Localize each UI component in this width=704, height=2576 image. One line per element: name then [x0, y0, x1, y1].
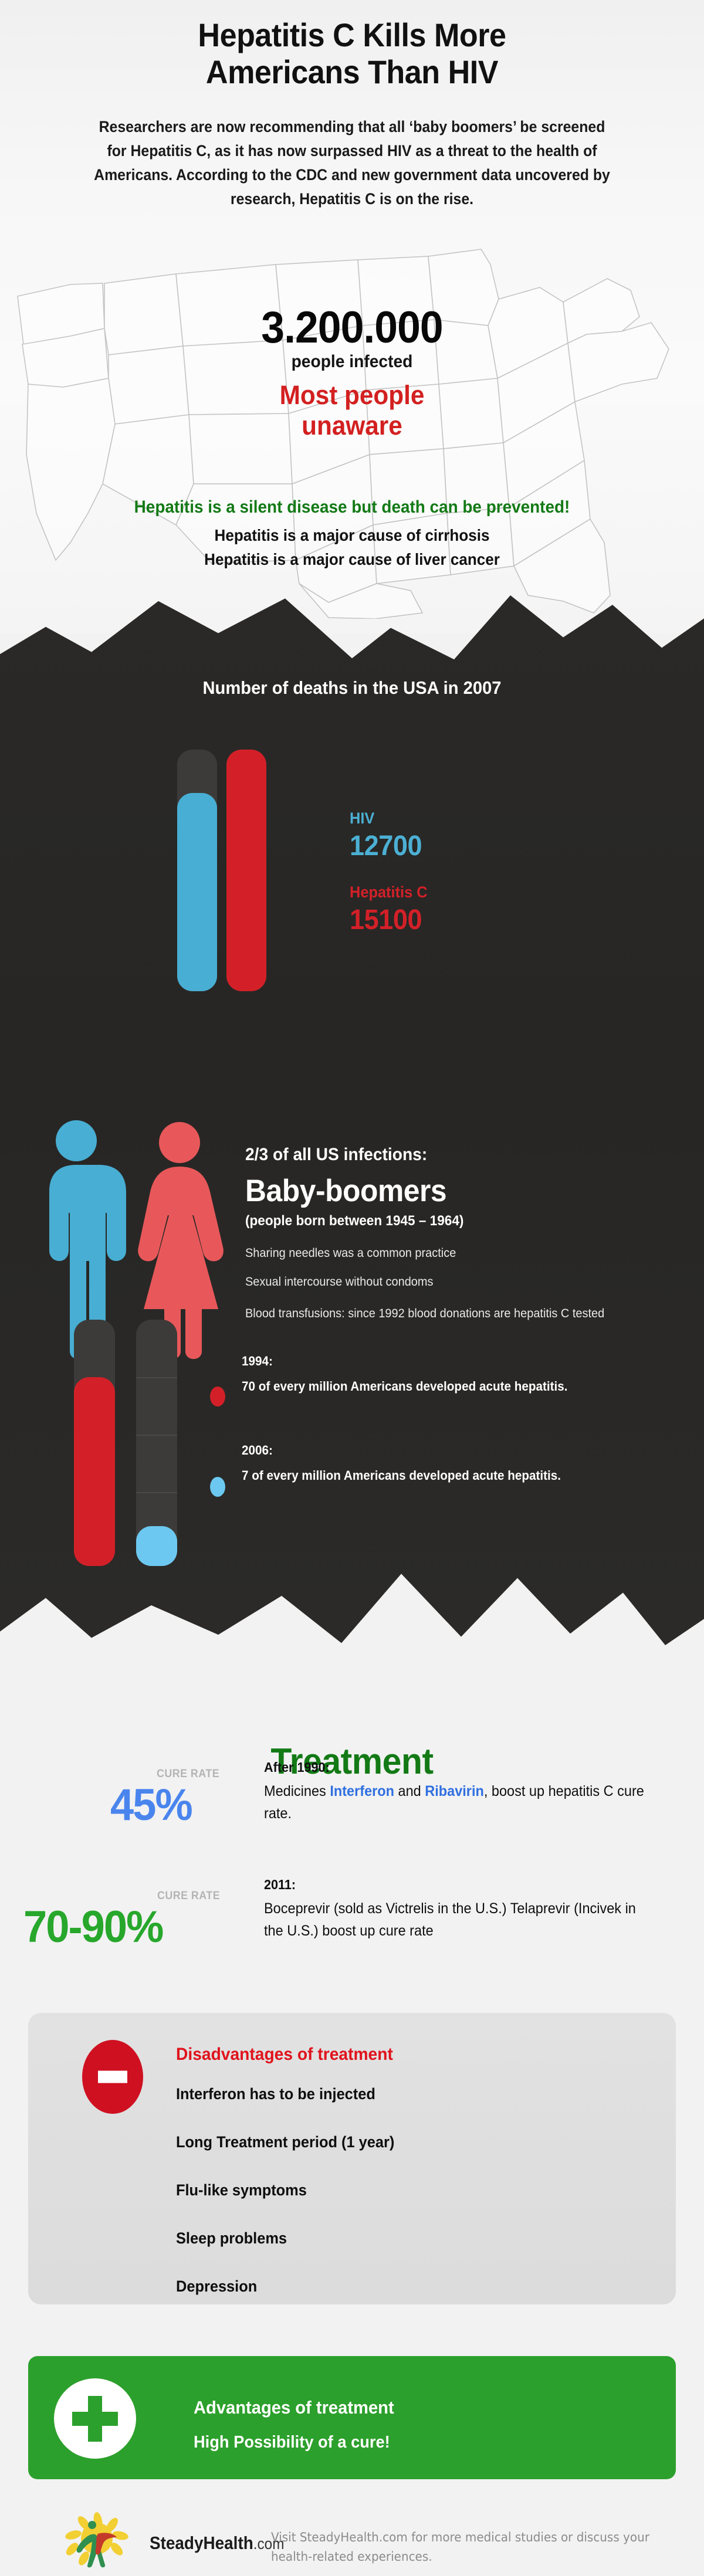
title-line-2: Americans Than HIV [25, 53, 679, 90]
treatment-1990-heading: After 1990: [264, 1760, 330, 1775]
disadvantage-item-3: Flu-like symptoms [176, 2181, 307, 2199]
drug-interferon: Interferon [330, 1783, 394, 1799]
treatment-2011-body: Boceprevir (sold as Victrelis in the U.S… [264, 1898, 650, 1942]
trend-thermometers-group [59, 1308, 182, 1595]
hiv-legend-value: 12700 [350, 830, 422, 862]
unaware-line-2: unaware [21, 411, 683, 441]
cure-rate-45-value: 45% [110, 1780, 192, 1831]
boomers-kicker: 2/3 of all US infections: [245, 1145, 427, 1165]
infected-count: 3.200.000 [21, 302, 683, 353]
trend-2006-year: 2006: [242, 1443, 273, 1458]
hero-section: Hepatitis C Kills More Americans Than HI… [0, 0, 704, 633]
disadvantage-item-1: Interferon has to be injected [176, 2085, 375, 2103]
plus-icon [54, 2378, 136, 2459]
track-tick [136, 1492, 177, 1493]
hiv-bar-fill [177, 793, 217, 991]
track-tick [136, 1435, 177, 1436]
infected-count-caption: people infected [21, 352, 683, 372]
body-mid: and [394, 1783, 425, 1799]
brand-part-steady: Steady [150, 2533, 204, 2553]
footer-description: Visit SteadyHealth.com for more medical … [271, 2528, 661, 2566]
advantages-subtitle: High Possibility of a cure! [194, 2433, 390, 2452]
page-title: Hepatitis C Kills More Americans Than HI… [25, 16, 679, 91]
list-item: Blood transfusions: since 1992 blood don… [245, 1304, 661, 1323]
unaware-callout: Most people unaware [21, 380, 683, 441]
minus-icon [82, 2040, 143, 2114]
deaths-chart-title: Number of deaths in the USA in 2007 [21, 677, 683, 699]
disadvantage-item-2: Long Treatment period (1 year) [176, 2133, 394, 2151]
unaware-line-1: Most people [21, 380, 683, 411]
boomers-headline: Baby-boomers [245, 1173, 446, 1209]
list-item: Sharing needles was a common practice [245, 1247, 661, 1259]
disadvantage-item-5: Depression [176, 2277, 257, 2296]
trend-2006-fill [136, 1526, 177, 1566]
boomers-bullet-list: Sharing needles was a common practice Se… [245, 1247, 682, 1340]
disadvantages-title: Disadvantages of treatment [176, 2045, 393, 2065]
list-item: Sexual intercourse without condoms [245, 1276, 661, 1288]
cure-rate-7090-value: 70-90% [23, 1902, 163, 1953]
drug-ribavirin: Ribavirin [425, 1783, 484, 1799]
treatment-title: Treatment [18, 1741, 686, 1782]
treatment-2011-heading: 2011: [264, 1877, 296, 1893]
cure-rate-caption-7090: CURE RATE [157, 1890, 220, 1903]
intro-paragraph: Researchers are now recommending that al… [92, 115, 612, 211]
trend-2006-text: 7 of every million Americans developed a… [242, 1466, 605, 1484]
trend-1994-fill [74, 1377, 115, 1566]
brand-part-health: Health [204, 2533, 253, 2553]
silent-disease-line: Hepatitis is a silent disease but death … [25, 497, 679, 517]
track-tick [136, 1377, 177, 1378]
minus-glyph [98, 2071, 127, 2083]
treatment-1990-body: Medicines Interferon and Ribavirin, boos… [264, 1781, 650, 1825]
footer-brand-name[interactable]: SteadyHealth.com [150, 2533, 284, 2554]
title-line-1: Hepatitis C Kills More [25, 16, 679, 53]
body-pre: Medicines [264, 1783, 330, 1799]
trend-1994-year: 1994: [242, 1354, 273, 1369]
hepatitis-legend-label: Hepatitis C [350, 883, 428, 901]
cause-liver-cancer-line: Hepatitis is a major cause of liver canc… [25, 550, 679, 569]
advantages-title: Advantages of treatment [194, 2397, 394, 2418]
trend-1994-marker-dot [210, 1387, 225, 1406]
trend-1994-text: 70 of every million Americans developed … [242, 1377, 605, 1395]
cause-cirrhosis-line: Hepatitis is a major cause of cirrhosis [25, 526, 679, 545]
boomers-subline: (people born between 1945 – 1964) [245, 1213, 463, 1229]
plus-glyph-horizontal [72, 2412, 118, 2426]
disadvantage-item-4: Sleep problems [176, 2229, 287, 2248]
cure-rate-caption-45: CURE RATE [157, 1768, 219, 1781]
trend-2006-marker-dot [210, 1477, 225, 1497]
hepatitis-bar-fill [226, 750, 266, 991]
hiv-legend-label: HIV [350, 809, 374, 828]
hepatitis-legend-value: 15100 [350, 904, 422, 936]
